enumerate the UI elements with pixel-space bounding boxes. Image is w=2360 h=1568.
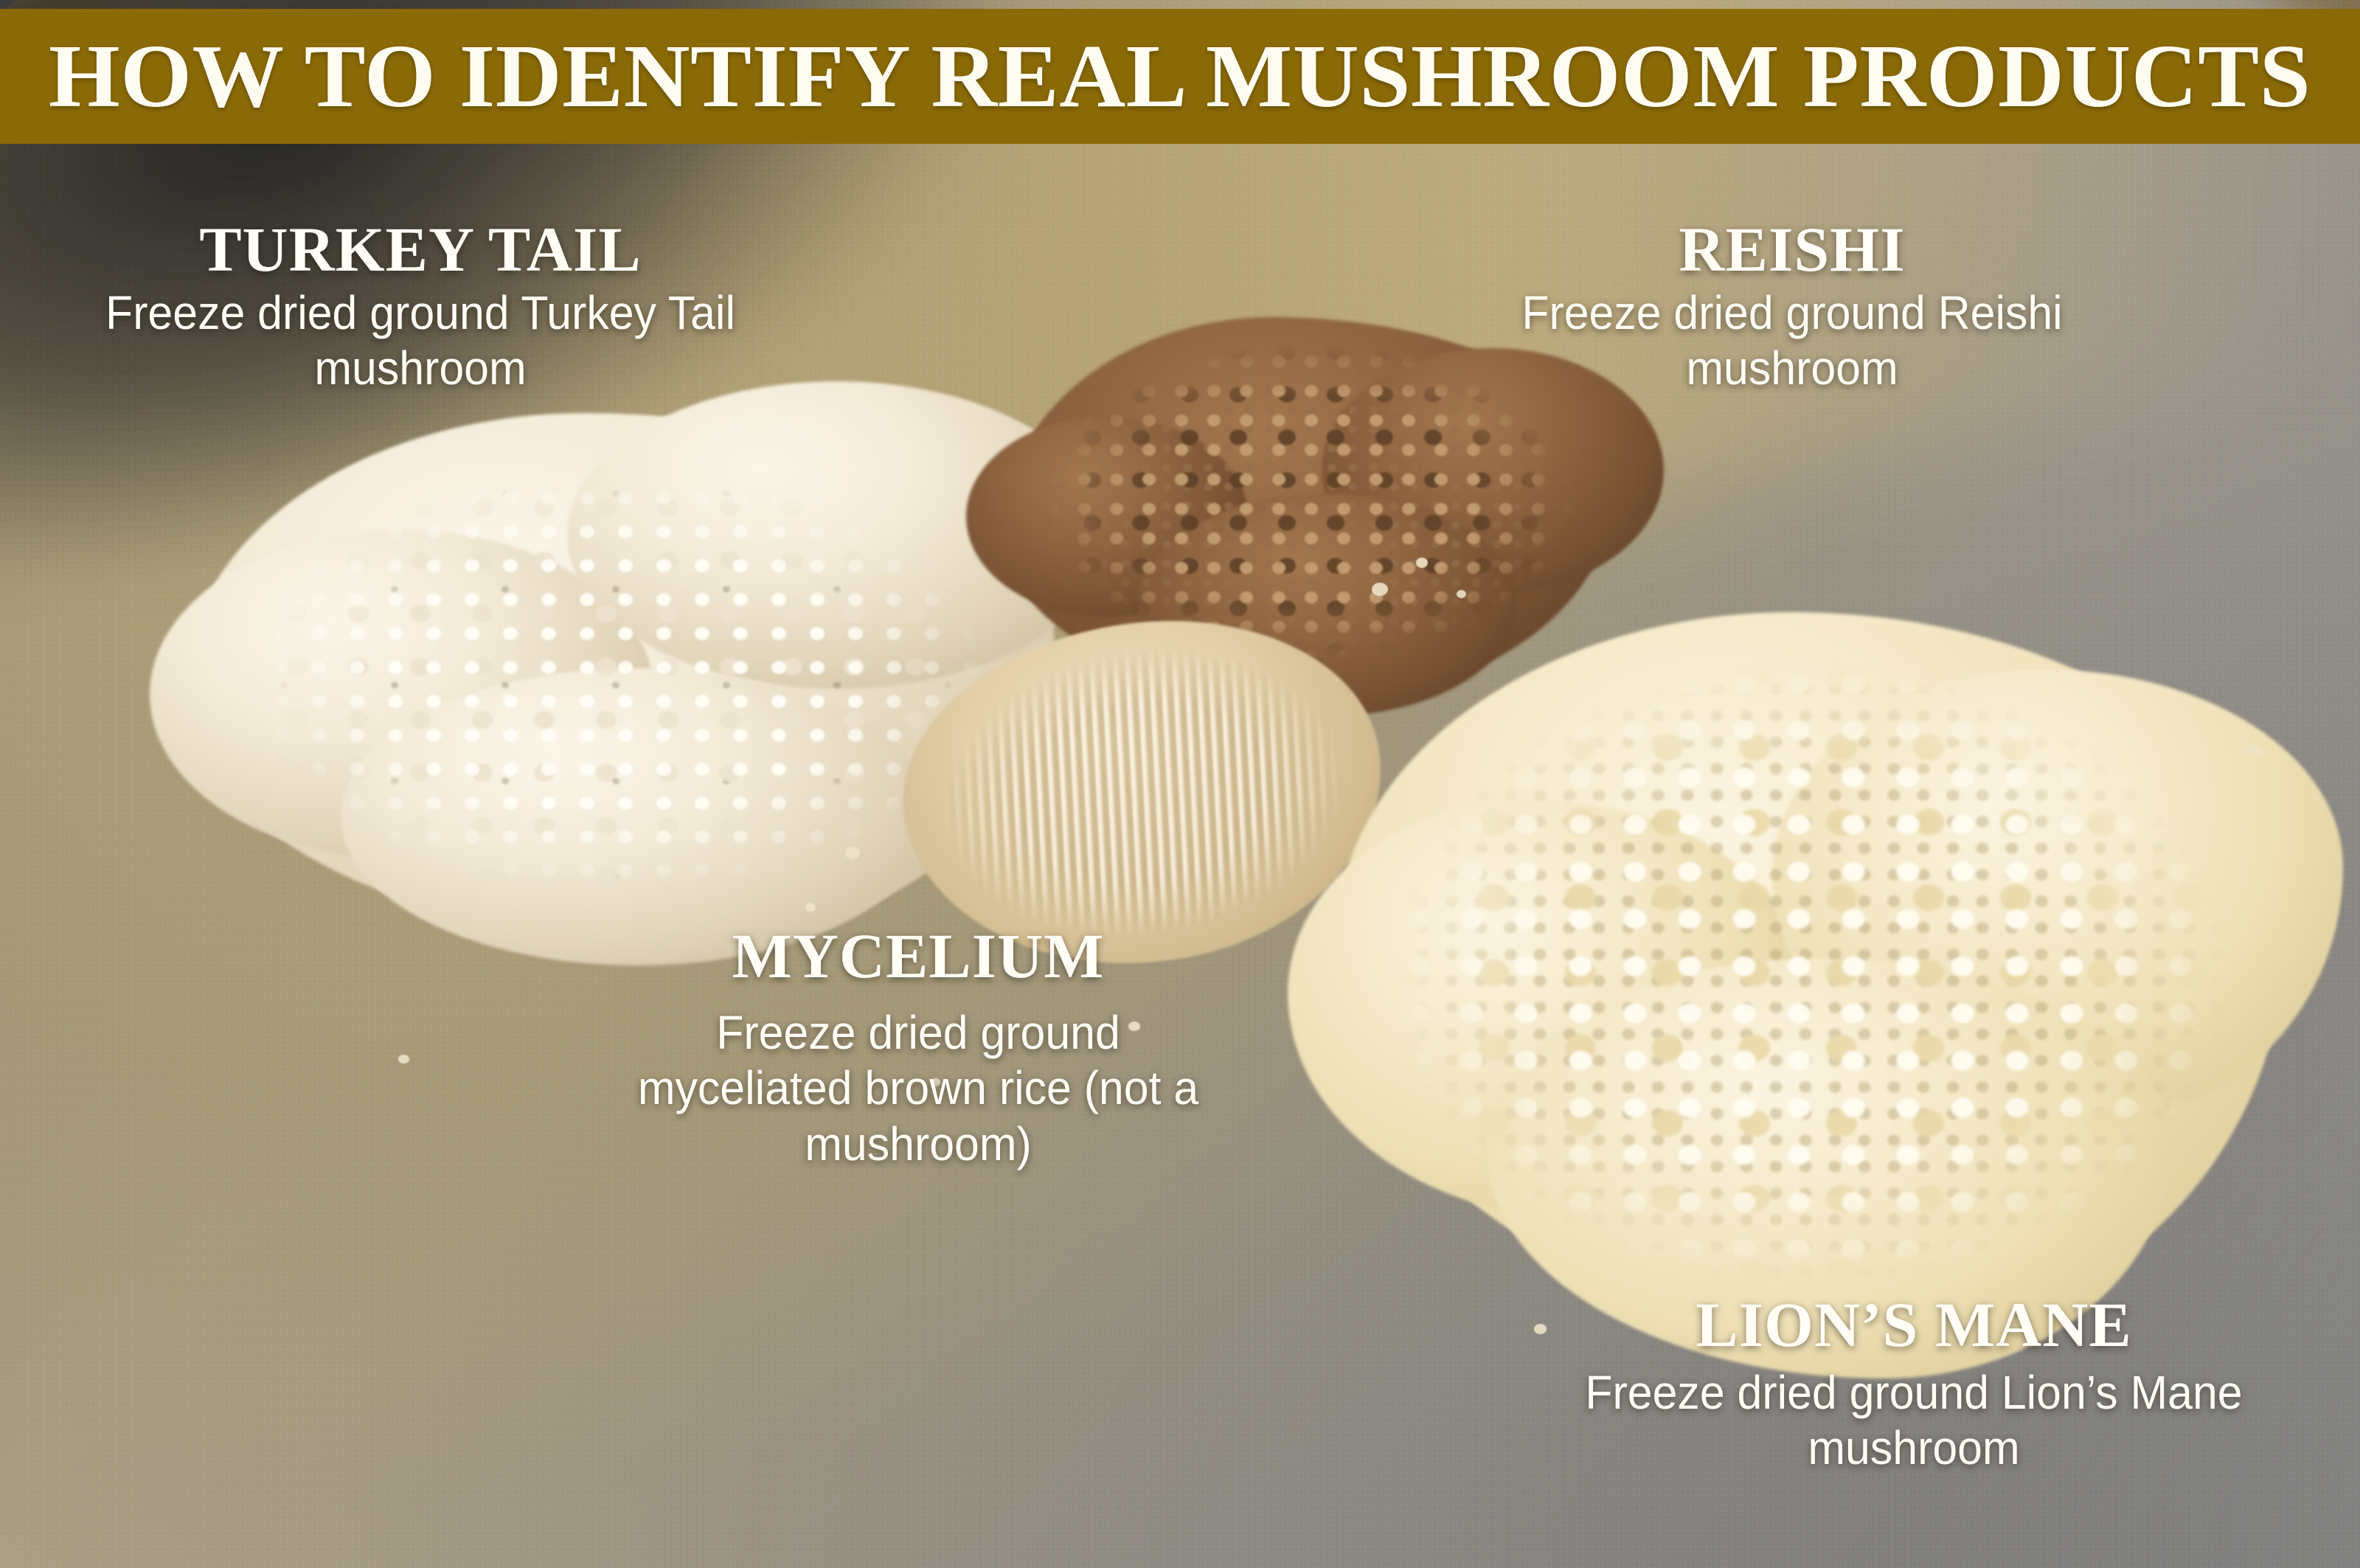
sample-pile-lions-mane (1335, 612, 2286, 1335)
label-turkey-tail: TURKEY TAIL Freeze dried ground Turkey T… (7, 218, 833, 397)
label-mycelium-name: MYCELIUM (612, 924, 1224, 989)
label-reishi-description: Freeze dried ground Reishi mushroom (1442, 285, 2142, 397)
label-lions-mane: LION’S MANE Freeze dried ground Lion’s M… (1475, 1293, 2353, 1477)
header-banner: HOW TO IDENTIFY REAL MUSHROOM PRODUCTS (0, 9, 2360, 144)
banner-title: HOW TO IDENTIFY REAL MUSHROOM PRODUCTS (49, 32, 2311, 122)
infographic-canvas: HOW TO IDENTIFY REAL MUSHROOM PRODUCTS T… (0, 0, 2360, 1568)
label-mycelium-description: Freeze dried ground myceliated brown ric… (628, 1005, 1209, 1173)
label-reishi-name: REISHI (1423, 218, 2161, 282)
label-reishi: REISHI Freeze dried ground Reishi mushro… (1423, 218, 2161, 397)
label-lions-mane-name: LION’S MANE (1475, 1293, 2353, 1358)
label-turkey-tail-description: Freeze dried ground Turkey Tail mushroom (28, 285, 813, 397)
label-turkey-tail-name: TURKEY TAIL (7, 218, 833, 282)
label-mycelium: MYCELIUM Freeze dried ground myceliated … (612, 924, 1224, 1172)
label-lions-mane-description: Freeze dried ground Lion’s Mane mushroom (1497, 1365, 2331, 1477)
